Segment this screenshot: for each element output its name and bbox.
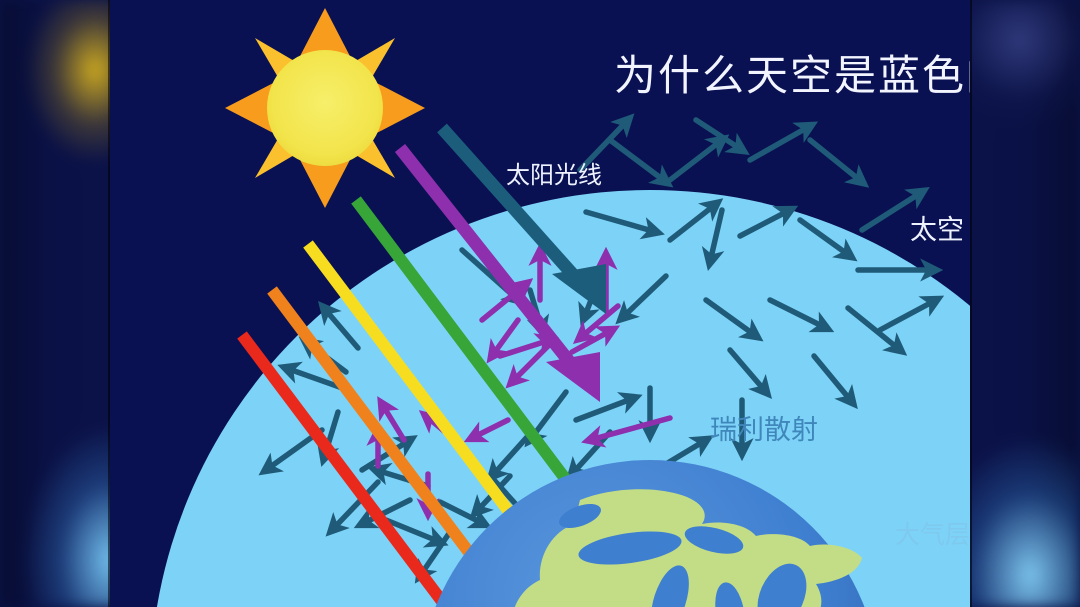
- label-space: 太空: [910, 208, 964, 247]
- page-title: 为什么天空是蓝色的?: [614, 42, 970, 103]
- label-atmosphere: 大气层: [895, 515, 970, 551]
- sun-disc: [267, 50, 383, 166]
- label-sunlight-rays: 太阳光线: [506, 155, 602, 190]
- right-seam: [970, 0, 972, 607]
- blurred-right-letterbox: [960, 0, 1080, 607]
- blurred-left-letterbox: [0, 0, 120, 607]
- sun: [225, 8, 425, 208]
- illustration-picture: 为什么天空是蓝色的? 太阳光线 太空 瑞利散射 大气层: [110, 0, 970, 607]
- slide-canvas: 为什么天空是蓝色的? 太阳光线 太空 瑞利散射 大气层: [0, 0, 1080, 607]
- label-rayleigh-scattering: 瑞利散射: [710, 408, 818, 447]
- left-seam: [108, 0, 110, 607]
